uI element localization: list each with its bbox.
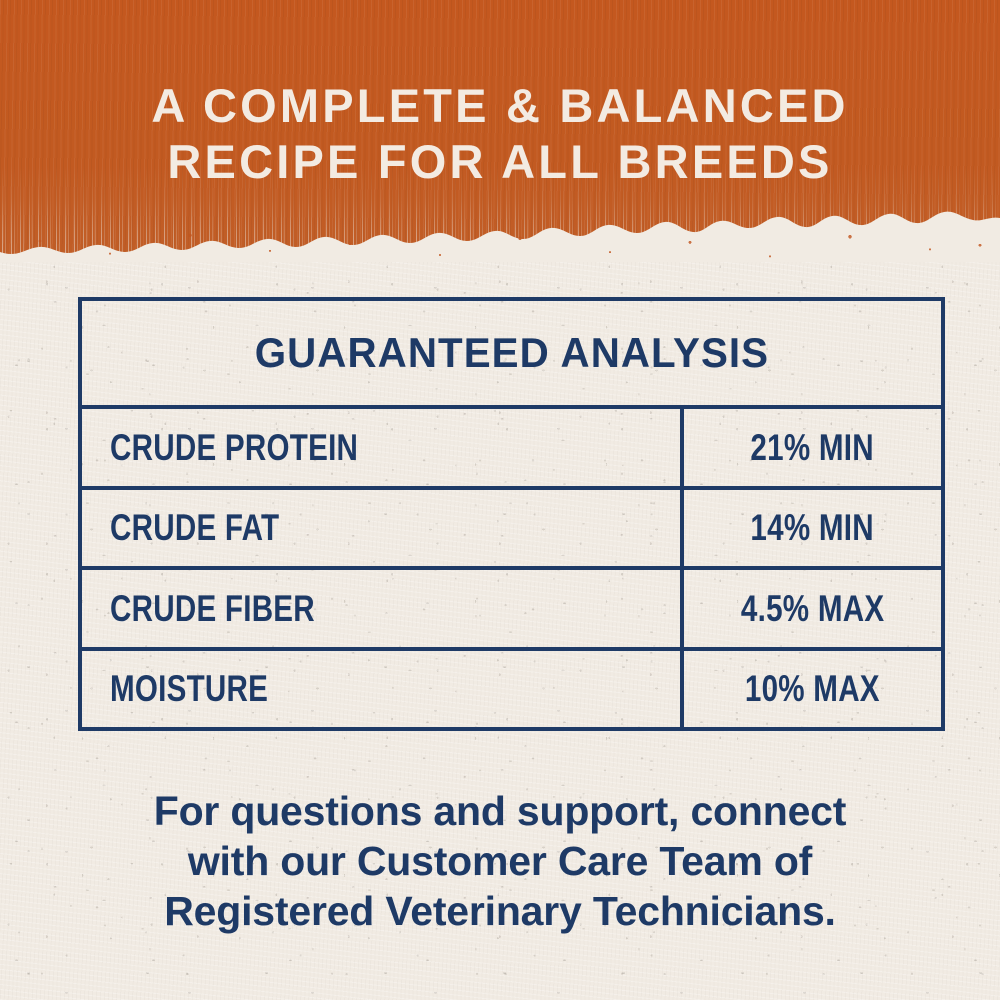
nutrient-value: 21% MIN bbox=[751, 429, 874, 466]
guaranteed-analysis-table: GUARANTEED ANALYSIS CRUDE PROTEIN 21% MI… bbox=[78, 297, 945, 731]
nutrient-value: 4.5% MAX bbox=[741, 590, 884, 627]
footer-line-2: with our Customer Care Team of bbox=[70, 836, 930, 886]
nutrient-value-cell: 4.5% MAX bbox=[684, 570, 941, 647]
nutrient-value-cell: 14% MIN bbox=[684, 490, 941, 567]
customer-care-note: For questions and support, connect with … bbox=[70, 786, 930, 936]
footer-line-3: Registered Veterinary Technicians. bbox=[70, 886, 930, 936]
nutrient-value-cell: 10% MAX bbox=[684, 651, 941, 728]
headline-line-2: RECIPE FOR ALL BREEDS bbox=[0, 134, 1000, 190]
orange-edge-speckles bbox=[0, 192, 1000, 262]
headline-line-1: A COMPLETE & BALANCED bbox=[0, 78, 1000, 134]
nutrient-label-cell: CRUDE FIBER bbox=[82, 570, 684, 647]
nutrient-label: CRUDE FAT bbox=[110, 509, 279, 546]
table-row: CRUDE FIBER 4.5% MAX bbox=[82, 570, 941, 651]
nutrient-value-cell: 21% MIN bbox=[684, 409, 941, 486]
nutrient-label-cell: MOISTURE bbox=[82, 651, 684, 728]
nutrient-value: 14% MIN bbox=[751, 509, 874, 546]
table-row: CRUDE PROTEIN 21% MIN bbox=[82, 409, 941, 490]
nutrient-label: CRUDE PROTEIN bbox=[110, 429, 358, 466]
table-title-row: GUARANTEED ANALYSIS bbox=[82, 301, 941, 409]
page-title: A COMPLETE & BALANCED RECIPE FOR ALL BRE… bbox=[0, 78, 1000, 190]
nutrient-label-cell: CRUDE FAT bbox=[82, 490, 684, 567]
table-row: CRUDE FAT 14% MIN bbox=[82, 490, 941, 571]
nutrient-value: 10% MAX bbox=[745, 670, 880, 707]
table-row: MOISTURE 10% MAX bbox=[82, 651, 941, 728]
table-title: GUARANTEED ANALYSIS bbox=[254, 329, 768, 377]
footer-line-1: For questions and support, connect bbox=[70, 786, 930, 836]
nutrient-label-cell: CRUDE PROTEIN bbox=[82, 409, 684, 486]
nutrient-label: MOISTURE bbox=[110, 670, 268, 707]
product-info-panel: A COMPLETE & BALANCED RECIPE FOR ALL BRE… bbox=[0, 0, 1000, 1000]
nutrient-label: CRUDE FIBER bbox=[110, 590, 315, 627]
